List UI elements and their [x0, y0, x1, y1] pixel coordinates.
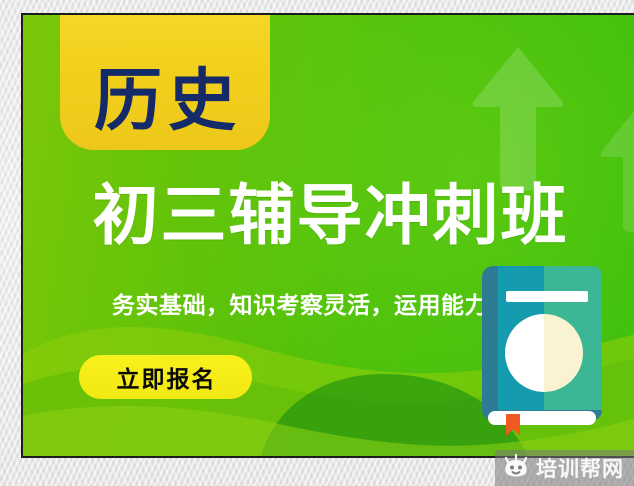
page-title: 初三辅导冲刺班: [23, 181, 634, 251]
course-promo-poster: 历史 初三辅导冲刺班 务实基础，知识考察灵活，运用能力提升 立即报名: [21, 13, 634, 458]
sun-face-icon: [503, 454, 529, 482]
book-illustration: [478, 264, 610, 436]
site-watermark: 培训帮网: [495, 450, 634, 486]
enroll-now-button[interactable]: 立即报名: [79, 355, 252, 399]
watermark-label: 培训帮网: [536, 453, 624, 483]
arrow-up-icon: [470, 43, 566, 193]
subject-badge-label: 历史: [88, 68, 242, 136]
enroll-now-label: 立即报名: [115, 360, 217, 394]
subject-badge: 历史: [60, 13, 270, 150]
page-canvas: 历史 初三辅导冲刺班 务实基础，知识考察灵活，运用能力提升 立即报名: [0, 0, 634, 486]
